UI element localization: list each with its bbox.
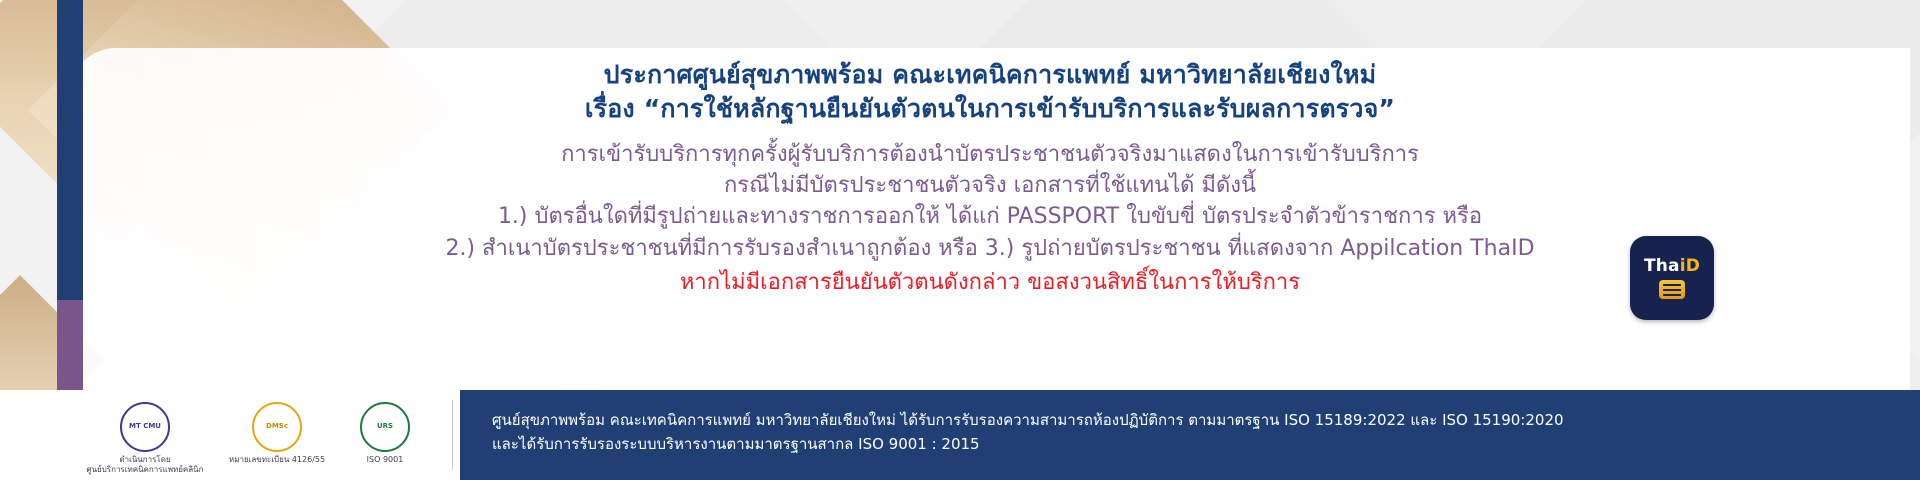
footer-divider [452, 400, 453, 470]
thaid-text-id: iD [1680, 256, 1700, 276]
announcement-banner: ประกาศศูนย์สุขภาพพร้อม คณะเทคนิคการแพทย์… [0, 0, 1920, 480]
accreditation-logo-urs: URS ISO 9001 [330, 402, 440, 465]
thaid-wordmark: ThaiD [1644, 258, 1700, 275]
footer-line-2: และได้รับการรับรองระบบบริหารงานตามมาตรฐา… [492, 432, 1564, 456]
announcement-content: ประกาศศูนย์สุขภาพพร้อม คณะเทคนิคการแพทย์… [70, 48, 1910, 390]
page-title: ประกาศศูนย์สุขภาพพร้อม คณะเทคนิคการแพทย์… [70, 48, 1910, 125]
title-line-2: เรื่อง “การใช้หลักฐานยืนยันตัวตนในการเข้… [70, 92, 1910, 126]
urs-seal-text: URS [377, 423, 393, 430]
dmsc-caption: หมายเลขทะเบียน 4126/55 [212, 455, 342, 465]
dmsc-seal-icon: DMSc [252, 402, 302, 452]
thaid-logo: ThaiD [1630, 236, 1714, 320]
mtcmu-seal-text: MT CMU [129, 423, 161, 430]
mtcmu-seal-icon: MT CMU [120, 402, 170, 452]
footer-left-margin [0, 390, 26, 480]
footer-text: ศูนย์สุขภาพพร้อม คณะเทคนิคการแพทย์ มหาวิ… [492, 408, 1564, 456]
body-line-2: กรณีไม่มีบัตรประชาชนตัวจริง เอกสารที่ใช้… [70, 170, 1910, 201]
title-line-1: ประกาศศูนย์สุขภาพพร้อม คณะเทคนิคการแพทย์… [70, 58, 1910, 92]
thaid-chip-icon [1659, 280, 1685, 299]
accreditation-logo-mtcmu: MT CMU ดำเนินการโดย ศูนย์บริการเทคนิคการ… [60, 402, 230, 475]
urs-seal-icon: URS [360, 402, 410, 452]
accreditation-logo-dmsc: DMSc หมายเลขทะเบียน 4126/55 [212, 402, 342, 465]
dmsc-seal-text: DMSc [266, 423, 288, 430]
body-line-1: การเข้ารับบริการทุกครั้งผู้รับบริการต้อง… [70, 139, 1910, 170]
footer-line-1: ศูนย์สุขภาพพร้อม คณะเทคนิคการแพทย์ มหาวิ… [492, 408, 1564, 432]
thaid-text-tha: Tha [1644, 256, 1680, 276]
urs-caption: ISO 9001 [330, 455, 440, 465]
mtcmu-caption: ดำเนินการโดย ศูนย์บริการเทคนิคการแพทย์คล… [60, 455, 230, 475]
footer: MT CMU ดำเนินการโดย ศูนย์บริการเทคนิคการ… [0, 390, 1920, 480]
body-line-item-1: 1.) บัตรอื่นใดที่มีรูปถ่ายและทางราชการออ… [70, 201, 1910, 232]
